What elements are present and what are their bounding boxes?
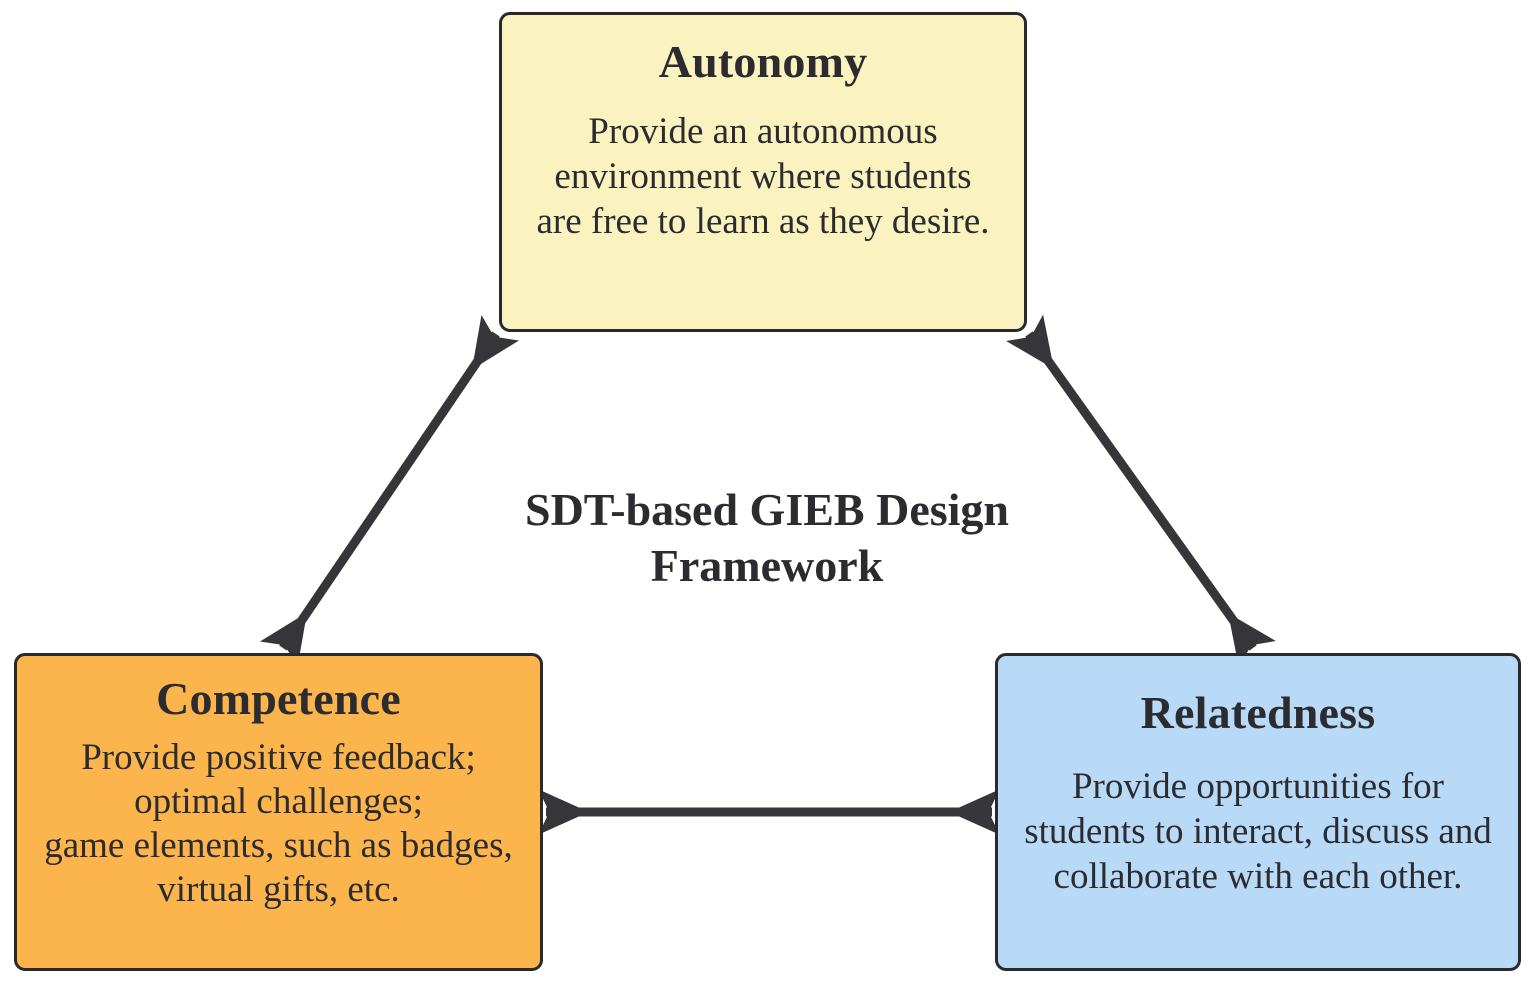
node-competence[interactable]: Competence Provide positive feedback; op… <box>14 653 543 971</box>
node-relatedness-description: Provide opportunities for students to in… <box>1024 764 1492 899</box>
node-autonomy[interactable]: Autonomy Provide an autonomous environme… <box>499 12 1027 332</box>
framework-center-label: SDT-based GIEB Design Framework <box>447 482 1087 594</box>
diagram-canvas: Autonomy Provide an autonomous environme… <box>0 0 1535 985</box>
node-relatedness[interactable]: Relatedness Provide opportunities for st… <box>995 653 1521 971</box>
node-competence-description: Provide positive feedback; optimal chall… <box>44 736 513 912</box>
node-relatedness-title: Relatedness <box>1141 688 1376 738</box>
node-autonomy-title: Autonomy <box>659 37 868 87</box>
node-autonomy-description: Provide an autonomous environment where … <box>537 109 990 244</box>
node-competence-title: Competence <box>156 674 401 724</box>
